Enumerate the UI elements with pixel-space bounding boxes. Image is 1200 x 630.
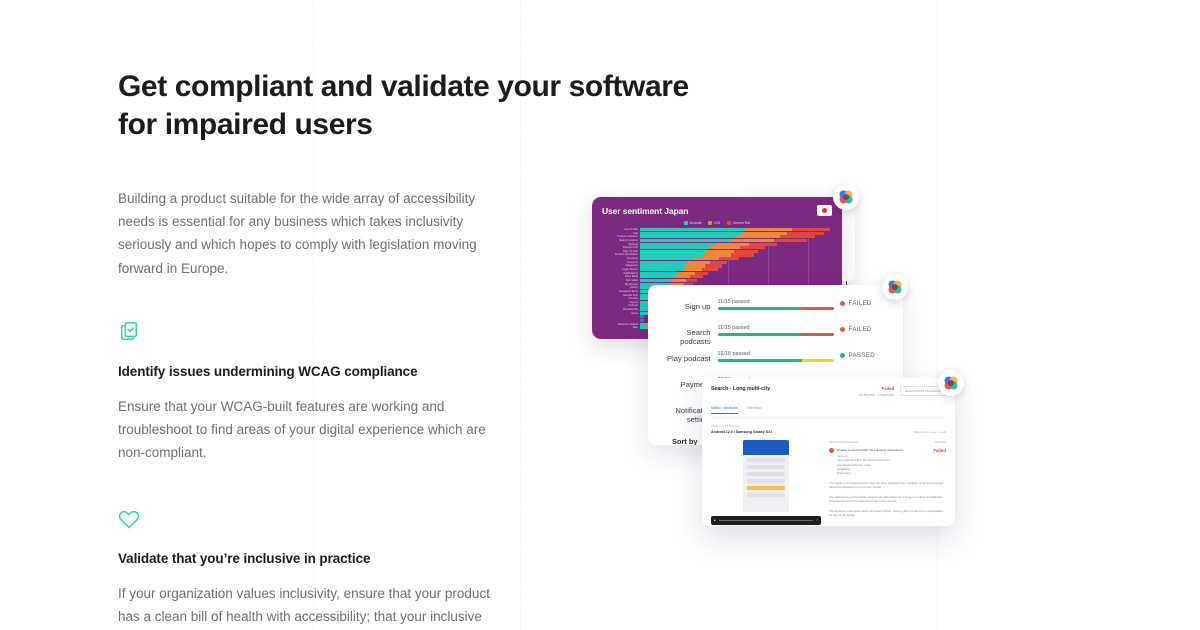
brand-logo-badge [833, 184, 859, 210]
phone-screenshot [743, 440, 789, 512]
chart-bar-segment [640, 232, 741, 235]
chart-bar-segment [787, 232, 824, 235]
phone-placeholder-line [747, 479, 785, 483]
chart-bar-segment [745, 228, 793, 231]
test-progress-bar [718, 307, 834, 310]
chart-bar-segment [774, 239, 807, 242]
status-text: FAILED [849, 300, 872, 307]
issues-label: Most common issues [829, 440, 858, 444]
chart-bar-label: Preview [628, 297, 638, 300]
chart-bar-segment [709, 246, 740, 249]
chart-bar-segment [640, 275, 674, 278]
chart-bar-segment [683, 268, 702, 271]
phone-app-header [743, 440, 789, 455]
brand-logo-icon [943, 375, 959, 391]
test-pass-count: 11/15 passed [718, 299, 834, 305]
tab-video-analysis[interactable]: Video / Analysis [711, 406, 738, 414]
chart-bar-row: Sign Up flow [640, 250, 836, 253]
product-illustration: Analysis User sentiment Japan Android [580, 178, 985, 543]
status-text: PASSED [849, 352, 875, 359]
fullscreen-icon[interactable]: ⛶ [816, 519, 818, 522]
legend-swatch [727, 221, 731, 225]
progress-segment [802, 359, 833, 362]
chart-bar-segment [734, 250, 758, 253]
tab-test-flow[interactable]: Test flow [747, 406, 762, 414]
heart-icon [118, 507, 140, 529]
chart-bar-segment [640, 239, 732, 242]
chart-bar-row: Results form [640, 246, 836, 249]
chart-bar-segment [731, 253, 754, 256]
issue-sublist: multi-cityuser requires within the scree… [837, 454, 946, 476]
feature-title: Identify issues undermining WCAG complia… [118, 364, 513, 379]
chart-bar-row: User Profile [640, 228, 836, 231]
feature-block-inclusive: Validate that you’re inclusive in practi… [118, 507, 513, 630]
chart-bar-segment [741, 232, 787, 235]
feature-block-wcag: Identify issues undermining WCAG complia… [118, 320, 513, 465]
test-progress: 11/15 passed [718, 297, 834, 310]
chart-bar-segment [640, 228, 745, 231]
detail-substatus: on this test · 1 issue with [859, 393, 894, 397]
chart-bar-label: User Profile [624, 228, 638, 231]
video-scrubber[interactable] [719, 520, 813, 521]
chart-bar-row: Settings [640, 243, 836, 246]
chart-bar-label: Password Entry [619, 290, 638, 293]
chart-bar-segment [640, 268, 683, 271]
legend-swatch [708, 221, 712, 225]
phone-placeholder-line [747, 486, 785, 490]
intro-paragraph: Building a product suitable for the wide… [118, 187, 508, 280]
status-badge: FAILED [834, 323, 893, 333]
test-progress-bar [718, 333, 834, 336]
chart-bar-segment [640, 253, 703, 256]
chart-bar-segment [678, 272, 695, 275]
chart-bar-segment [749, 243, 776, 246]
legend-item: Android [684, 221, 702, 225]
chart-bar-segment [715, 243, 749, 246]
chart-bar-row: Categories [640, 264, 836, 267]
test-progress: 16/16 passed [718, 349, 834, 362]
test-result-row[interactable]: Play podcast16/16 passedPASSED [658, 349, 893, 375]
chart-bar-segment [703, 253, 732, 256]
detail-device: Android 12.0 / Samsung Galaxy S21 [711, 430, 772, 434]
detail-header: Search - Long multi-city Failed on this … [711, 386, 946, 397]
chart-bar-label: Product selection [617, 235, 638, 238]
chart-bar-row: Sub-video [640, 279, 836, 282]
chart-bar-label: Resubscribe [623, 308, 638, 311]
test-result-row[interactable]: Sign up11/15 passedFAILED [658, 297, 893, 323]
chart-bar-row: Search function [640, 239, 836, 242]
test-pass-count: 11/15 passed [718, 325, 834, 331]
chart-bar-label: Users [631, 312, 638, 315]
issue-headline: Unable to scroll to/with the following p… [837, 448, 904, 453]
feature-body: Ensure that your WCAG-built features are… [118, 395, 508, 465]
issue-paragraph: The authority information does not reduc… [829, 509, 946, 518]
chart-bar-segment [695, 272, 709, 275]
chart-bar-row: Notifications [640, 272, 836, 275]
chart-bar-segment [640, 272, 678, 275]
progress-segment [718, 307, 803, 310]
test-name: Search podcasts [658, 323, 718, 347]
progress-segment [802, 307, 833, 310]
brand-logo-badge [938, 370, 964, 396]
fail-dot-icon [840, 327, 845, 332]
chart-bar-segment [640, 261, 688, 264]
video-panel: ▶ ⛶ Primary · Website Underlying flow at… [711, 440, 821, 526]
feature-body: If your organization values inclusivity,… [118, 582, 508, 630]
phone-placeholder-line [747, 465, 785, 469]
test-progress: 11/15 passed [718, 323, 834, 336]
flag-dot [822, 208, 827, 213]
chart-bar-label: Library [630, 286, 638, 289]
chart-bar-row: Login Screen [640, 268, 836, 271]
test-result-row[interactable]: Search podcasts11/15 passedFAILED [658, 323, 893, 349]
video-player-controls[interactable]: ▶ ⛶ [711, 516, 821, 525]
test-name: Sign up [658, 297, 718, 311]
detail-tabs: Video / Analysis Test flow [711, 406, 946, 418]
test-name: Play podcast [658, 349, 718, 363]
legend-label: iOS [714, 221, 720, 225]
chart-bar-segment [710, 261, 727, 264]
legend-item: Screen Rdr [727, 221, 750, 225]
chart-bar-segment [705, 264, 721, 267]
legend-swatch [684, 221, 688, 225]
detail-meta: Tested on 18 October [711, 424, 772, 428]
chart-bar-row: Product selection [640, 235, 836, 238]
issue-item: Unable to scroll to/with the following p… [829, 448, 946, 453]
chart-bar-label: Search function [619, 239, 638, 242]
chart-bar-row: Filter fields [640, 275, 836, 278]
issue-paragraph: The followed by a flow builder placed ma… [829, 495, 946, 504]
chart-bar-label: Checkout [627, 257, 638, 260]
chart-bar-row: Coupons [640, 261, 836, 264]
brand-logo-icon [887, 279, 903, 295]
brand-logo-icon [838, 189, 854, 205]
legend-label: Android [690, 221, 702, 225]
chart-bar-segment [690, 275, 703, 278]
status-badge: PASSED [834, 349, 893, 359]
status-badge: FAILED [834, 297, 893, 307]
chart-bar-segment [732, 239, 774, 242]
content-column: Get compliant and validate your software… [118, 68, 513, 630]
chart-bar-segment [640, 235, 736, 238]
severity-label: Severity [935, 440, 946, 444]
page-root: Get compliant and validate your software… [0, 0, 1200, 630]
chart-bar-segment [685, 264, 705, 267]
progress-segment [718, 359, 803, 362]
detail-status-badge: Failed [859, 386, 894, 391]
phone-placeholder-line [747, 472, 785, 476]
chart-bar-segment [736, 235, 780, 238]
progress-segment [802, 333, 833, 336]
page-title: Get compliant and validate your software… [118, 68, 728, 143]
phone-placeholder-line [747, 458, 785, 462]
test-pass-count: 16/16 passed [718, 351, 834, 357]
report-issue-link[interactable]: Report this issue / result [914, 430, 946, 434]
issue-fail-icon [829, 448, 834, 453]
chart-bar-segment [640, 257, 694, 260]
chart-bar-segment [640, 264, 685, 267]
clipboard-check-icon [118, 320, 140, 342]
sort-by-button[interactable]: Sort by [672, 437, 697, 445]
test-progress-bar [718, 359, 834, 362]
japan-flag-icon [817, 205, 832, 216]
chart-bar-segment [640, 243, 715, 246]
status-text: FAILED [849, 326, 872, 333]
chart-bar-segment [686, 279, 697, 282]
chart-bar-row: Checkout [640, 257, 836, 260]
chart-bar-segment [702, 268, 718, 271]
test-detail-card: Search - Long multi-city Failed on this … [702, 378, 955, 526]
chart-bar-segment [740, 246, 765, 249]
legend-item: iOS [708, 221, 720, 225]
chart-bar-segment [640, 279, 671, 282]
pass-dot-icon [840, 353, 845, 358]
chart-bar-label: Sub-video [626, 279, 638, 282]
issue-sublist-item: Press keys [837, 471, 946, 475]
chart-bar-segment [640, 246, 709, 249]
issue-paragraph: The inputs in the Select button does not… [829, 481, 946, 490]
chart-bar-segment [705, 250, 734, 253]
chart-bar-segment [640, 315, 644, 318]
play-icon[interactable]: ▶ [714, 519, 716, 522]
chart-bar-segment [792, 228, 830, 231]
chart-bar-segment [719, 257, 739, 260]
issue-status: Failed [933, 448, 946, 453]
chart-legend: Android iOS Screen Rdr [592, 221, 842, 225]
chart-bar-label: Results form [623, 246, 638, 249]
chart-bar-segment [694, 257, 719, 260]
chart-bar-label: Login Screen [622, 268, 638, 271]
brand-logo-badge [882, 274, 908, 300]
chart-bar-row: Cart [640, 232, 836, 235]
chart-bar-label: Filter fields [625, 275, 638, 278]
chart-bar-segment [640, 319, 644, 322]
detail-title: Search - Long multi-city [711, 386, 770, 392]
chart-bar-segment [640, 250, 705, 253]
legend-label: Screen Rdr [733, 221, 750, 225]
sentiment-card-header: User sentiment Japan [592, 197, 842, 218]
progress-segment [718, 333, 803, 336]
chart-bar-segment [674, 275, 690, 278]
sentiment-card-title: User sentiment Japan [602, 206, 688, 216]
issues-panel: Most common issues Severity Unable to sc… [829, 440, 946, 526]
feature-title: Validate that you’re inclusive in practi… [118, 551, 513, 566]
phone-placeholder-line [747, 493, 785, 497]
chart-bar-segment [671, 279, 685, 282]
chart-bar-segment [780, 235, 815, 238]
chart-bar-row: Product transaction [640, 253, 836, 256]
chart-bar-label: Map [633, 326, 638, 329]
issues-header: Most common issues Severity [829, 440, 946, 444]
fail-dot-icon [840, 301, 845, 306]
detail-body: ▶ ⛶ Primary · Website Underlying flow at… [711, 440, 946, 526]
chart-bar-segment [688, 261, 710, 264]
